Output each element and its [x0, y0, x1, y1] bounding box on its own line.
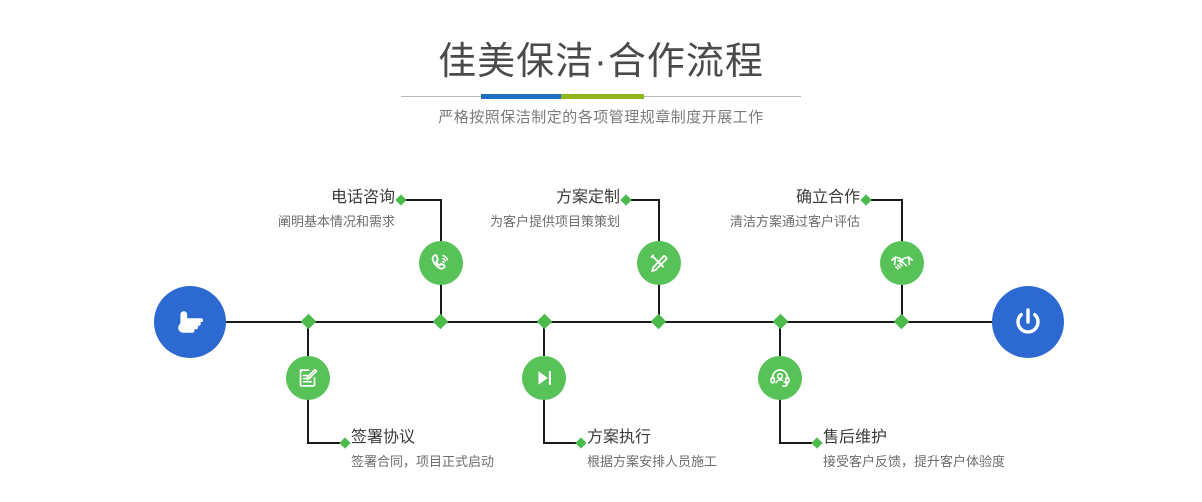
axis-node-6 — [894, 314, 910, 330]
cooperation-process-infographic: 佳美保洁·合作流程 严格按照保洁制定的各项管理规章制度开展工作 — [0, 0, 1202, 502]
step-bottom-2-icon-circle — [522, 356, 566, 400]
step-top-3-icon-circle — [880, 241, 924, 285]
phone-call-icon — [428, 250, 454, 276]
axis-node-1 — [301, 314, 317, 330]
step-top-3-marker — [860, 194, 871, 205]
pen-design-icon — [646, 250, 672, 276]
step-top-1-hline — [401, 199, 442, 201]
step-bottom-1-icon-circle — [286, 356, 330, 400]
step-bottom-3-label: 售后维护 接受客户反馈，提升客户体验度 — [823, 428, 1153, 472]
handshake-icon — [889, 250, 915, 276]
step-top-3-desc: 清洁方案通过客户评估 — [585, 212, 860, 232]
step-top-2-title: 方案定制 — [345, 188, 620, 208]
axis-node-5 — [773, 314, 789, 330]
step-bottom-3-desc: 接受客户反馈，提升客户体验度 — [823, 452, 1153, 472]
step-top-2-icon-circle — [637, 241, 681, 285]
axis-node-2 — [433, 314, 449, 330]
step-top-2-desc: 为客户提供项目策策划 — [345, 212, 620, 232]
customer-support-icon — [767, 365, 793, 391]
power-icon — [1008, 302, 1048, 342]
sign-document-icon — [295, 365, 321, 391]
step-bottom-1-marker — [339, 437, 350, 448]
flow-start-node — [154, 286, 226, 358]
step-top-1-icon-circle — [419, 241, 463, 285]
pointing-hand-icon — [170, 302, 210, 342]
step-top-2-label: 方案定制 为客户提供项目策策划 — [345, 188, 620, 232]
step-bottom-3-title: 售后维护 — [823, 428, 1153, 448]
flow-end-node — [992, 286, 1064, 358]
axis-node-3 — [537, 314, 553, 330]
play-execute-icon — [531, 365, 557, 391]
process-flow-diagram: 电话咨询 阐明基本情况和需求 方案定制 为客户提供项目策策划 — [0, 0, 1202, 502]
axis-node-4 — [651, 314, 667, 330]
step-bottom-3-icon-circle — [758, 356, 802, 400]
